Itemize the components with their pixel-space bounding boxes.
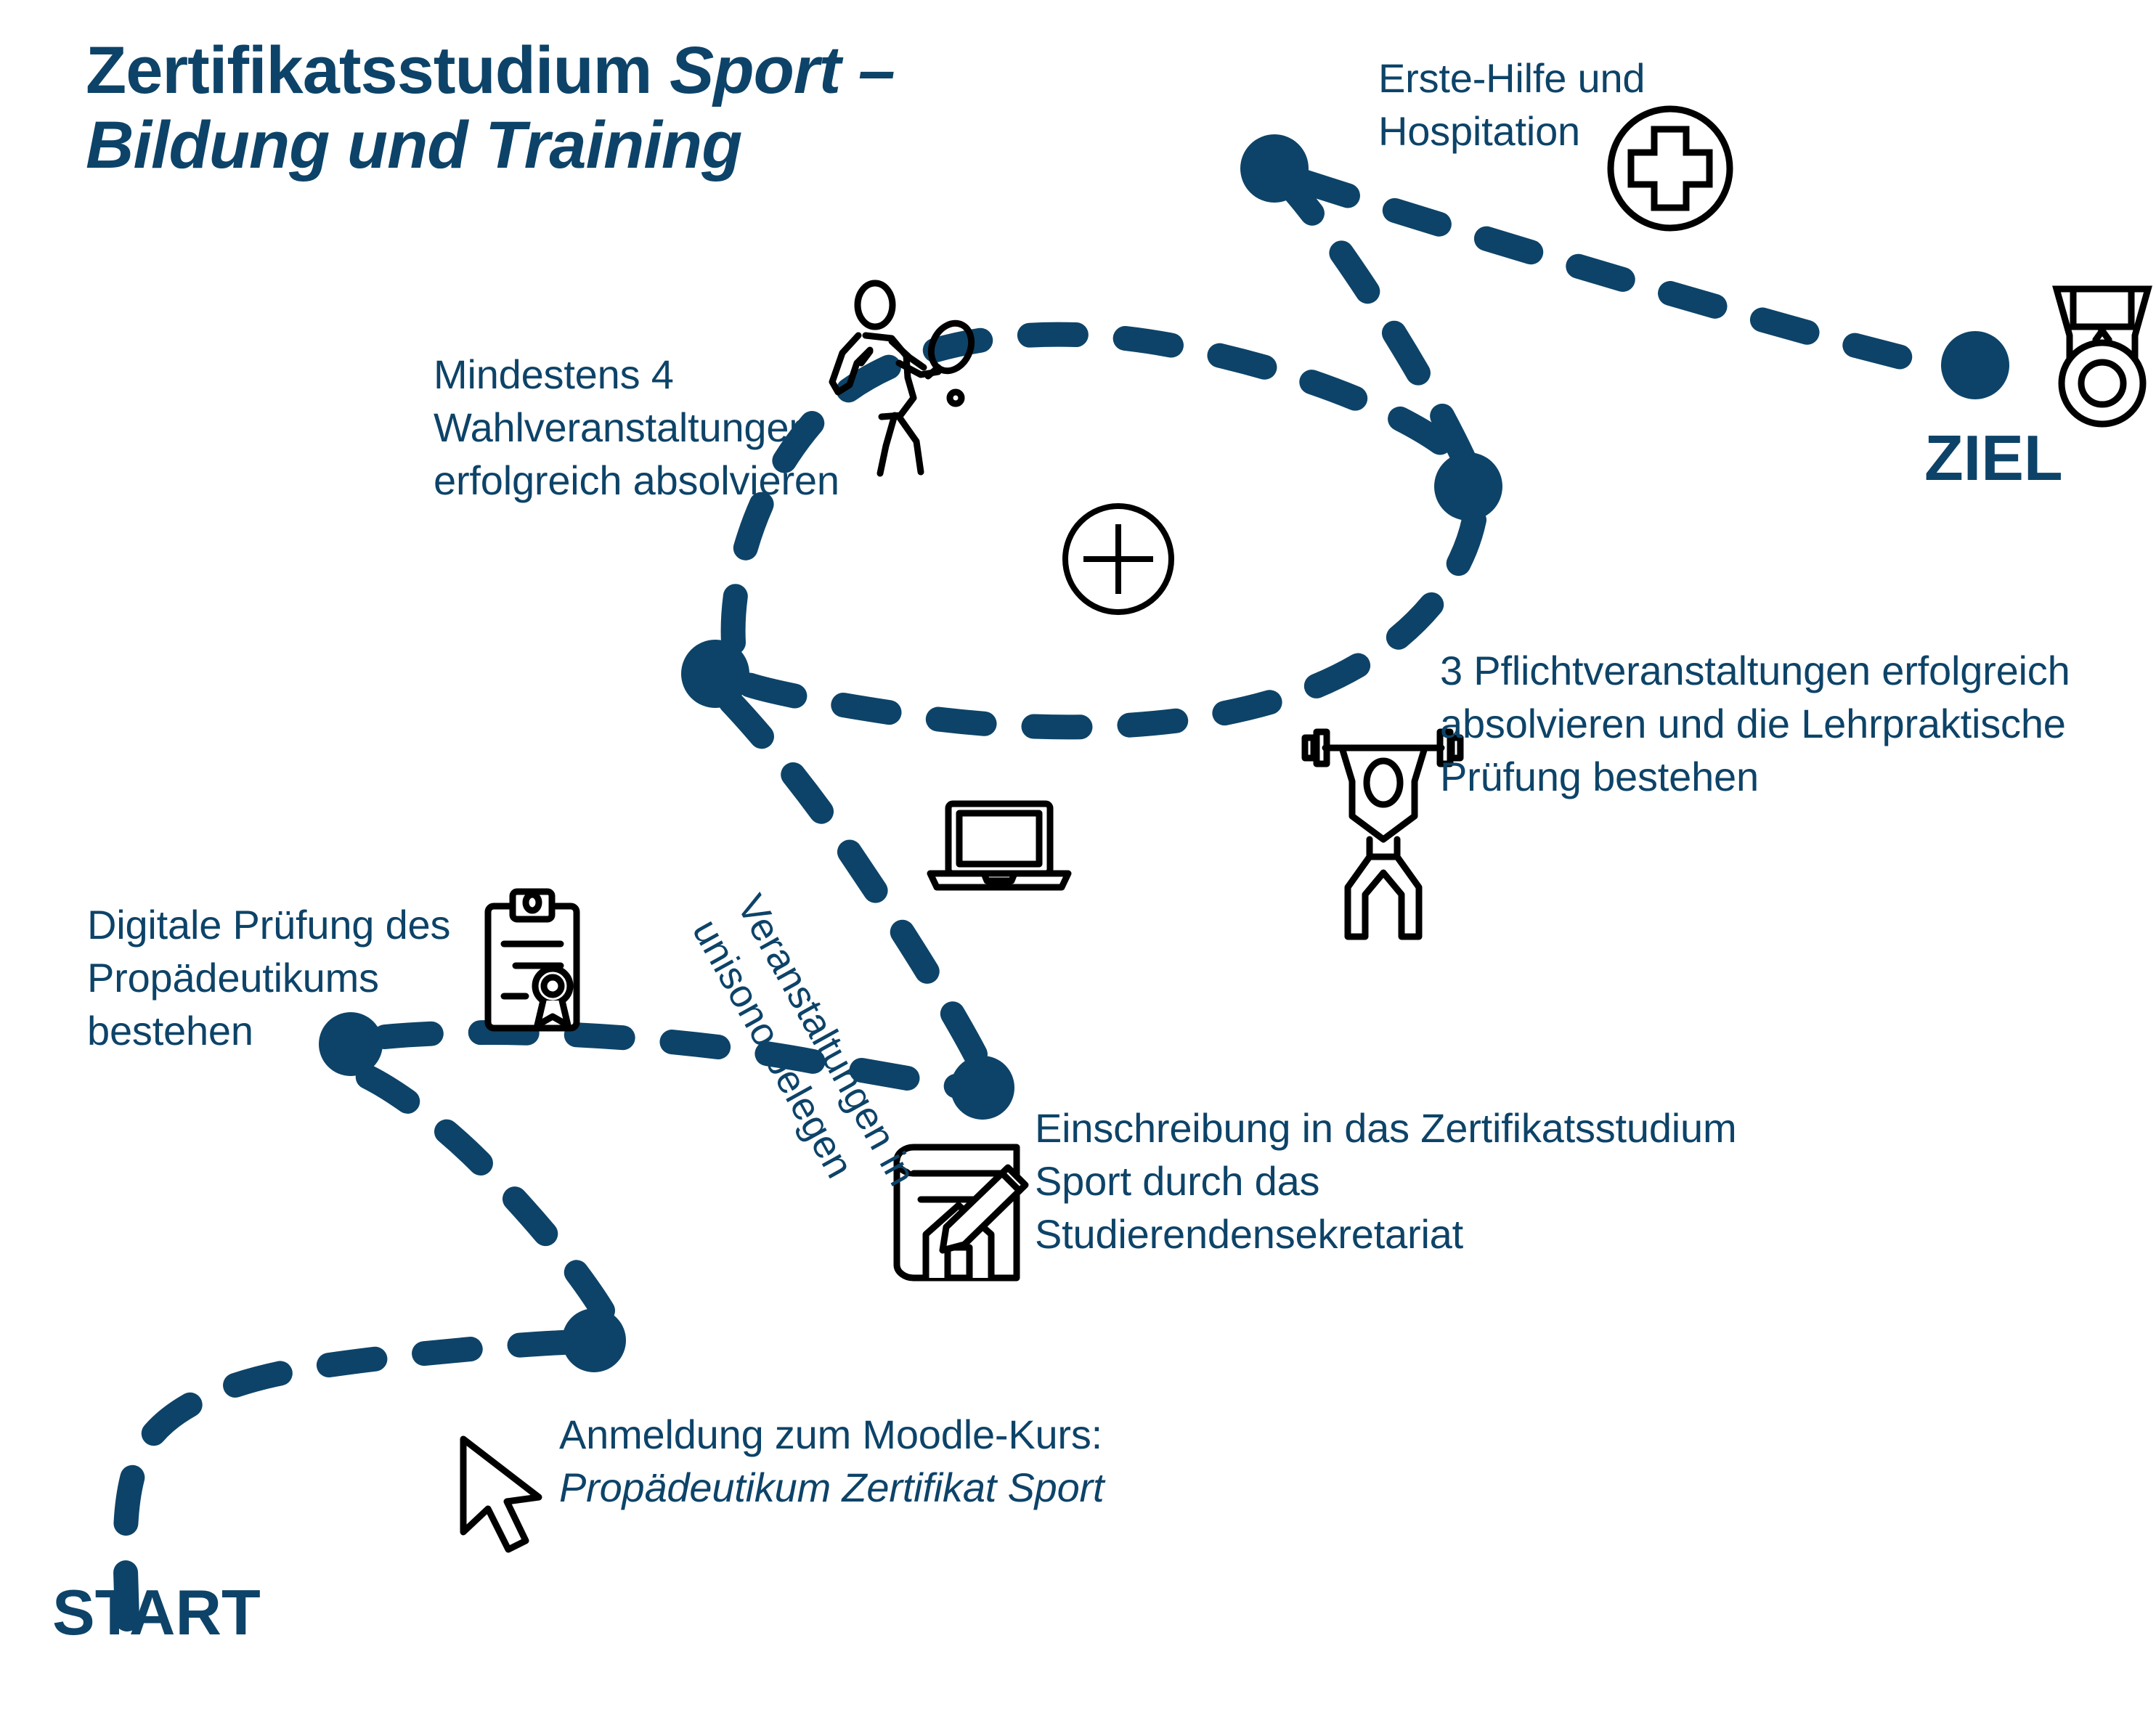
clipboard-certificate-icon <box>488 892 577 1028</box>
path-erstehilfe-to-ziel <box>1303 182 1945 367</box>
node-moodle[interactable] <box>562 1308 626 1372</box>
rotated-label-wrapper: Veranstaltungen in unisono belegen <box>770 886 777 893</box>
plus-circle-icon <box>1065 506 1171 612</box>
path-loop-lower <box>747 520 1474 727</box>
node-pflichtveranstaltungen[interactable] <box>1434 452 1502 521</box>
node-erste-hilfe[interactable] <box>1240 134 1309 203</box>
step-label-unisono: Veranstaltungen in unisono belegen <box>680 886 1016 1380</box>
title-line1-italic: Sport – <box>670 33 895 107</box>
step-label-einschreibung: Einschreibung in das Zertifikatsstudium … <box>1035 1102 1805 1260</box>
infographic-canvas: Zertifikatsstudium Sport –Bildung und Tr… <box>0 0 2156 1715</box>
node-unisono-wahl[interactable] <box>681 640 749 708</box>
step-label-digitale-pruefung: Digitale Prüfung des Propädeutikums best… <box>87 899 494 1057</box>
title-line2-italic: Bildung und Training <box>86 108 741 182</box>
node-ziel[interactable] <box>1941 331 2009 399</box>
step-label-pflichtveranstaltungen: 3 Pflichtveranstaltungen erfolgreich abs… <box>1440 645 2156 803</box>
node-einschreibung[interactable] <box>951 1056 1014 1120</box>
mouse-cursor-icon <box>463 1439 539 1549</box>
laptop-icon <box>930 804 1068 887</box>
ziel-label: ZIEL <box>1924 421 2063 495</box>
start-label: START <box>52 1576 261 1650</box>
path-loop-to-erstehilfe <box>1280 176 1463 457</box>
path-moodle-to-digital <box>359 1073 603 1311</box>
moodle-line1: Anmeldung zum Moodle-Kurs: <box>559 1411 1102 1457</box>
step-label-moodle: Anmeldung zum Moodle-Kurs:Propädeutikum … <box>559 1409 1198 1515</box>
title-line1-plain: Zertifikatsstudium <box>86 33 670 107</box>
page-title: Zertifikatsstudium Sport –Bildung und Tr… <box>86 33 1175 183</box>
weightlifter-icon <box>1305 732 1460 937</box>
medal-icon <box>2057 289 2148 424</box>
step-label-erste-hilfe: Erste-Hilfe und Hospitation <box>1378 52 1720 158</box>
step-label-wahlveranstaltungen: Mindestens 4 Wahlveranstaltungen erfolgr… <box>434 349 898 507</box>
moodle-line2: Propädeutikum Zertifikat Sport <box>559 1465 1104 1510</box>
